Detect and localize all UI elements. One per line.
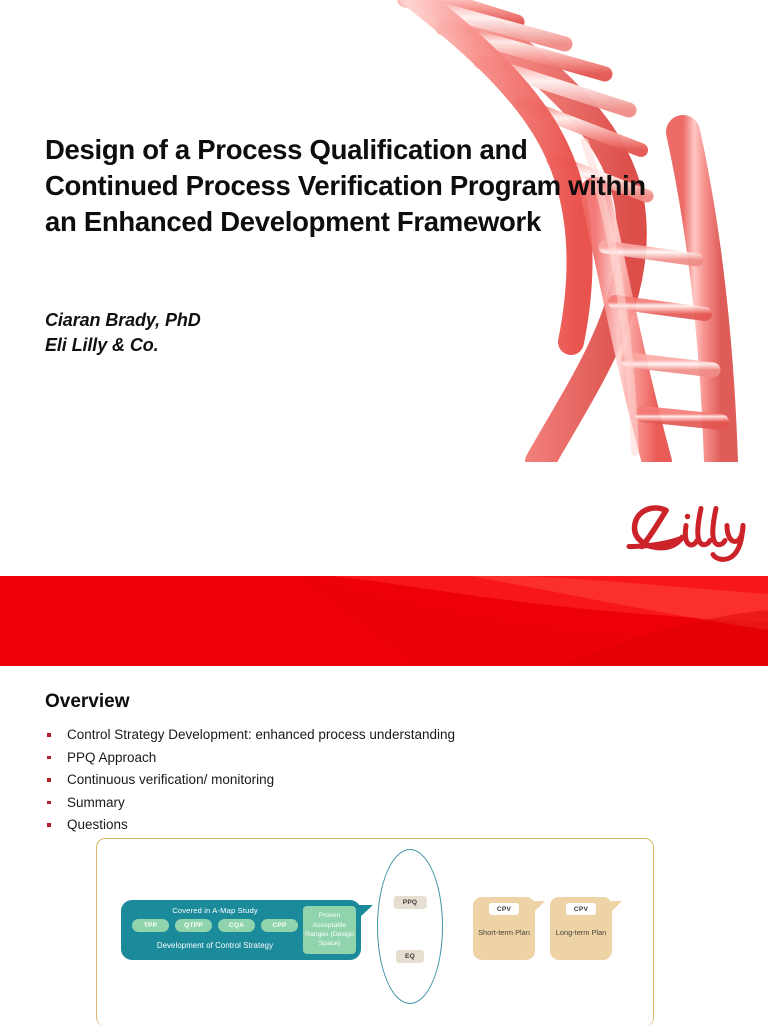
control-strategy-tail bbox=[359, 905, 373, 918]
list-item: Continuous verification/ monitoring bbox=[45, 769, 645, 792]
page-title: Design of a Process Qualification and Co… bbox=[45, 132, 665, 240]
pill-ppq: PPQ bbox=[394, 896, 427, 909]
overview-heading: Overview bbox=[45, 691, 130, 713]
cpv-short-term-label: Short-term Plan bbox=[473, 928, 535, 938]
list-item-label: PPQ Approach bbox=[67, 750, 156, 765]
bullet-icon bbox=[47, 778, 51, 782]
control-strategy-header: Covered in A-Map Study bbox=[131, 906, 299, 915]
cpv-tag: CPV bbox=[489, 903, 519, 915]
presenter-organization: Eli Lilly & Co. bbox=[45, 333, 545, 358]
pill-cqa: CQA bbox=[218, 919, 255, 932]
title-block: Design of a Process Qualification and Co… bbox=[45, 132, 665, 240]
pill-qtpp: QTPP bbox=[175, 919, 212, 932]
presenter-block: Ciaran Brady, PhD Eli Lilly & Co. bbox=[45, 308, 545, 358]
overview-bullet-list: Control Strategy Development: enhanced p… bbox=[45, 724, 645, 837]
title-slide: Design of a Process Qualification and Co… bbox=[0, 0, 768, 576]
bullet-icon bbox=[47, 733, 51, 737]
lilly-logo bbox=[618, 498, 748, 564]
cpv-short-term-tail bbox=[534, 901, 545, 912]
cpv-long-term-label: Long-term Plan bbox=[550, 928, 612, 938]
list-item: Summary bbox=[45, 792, 645, 815]
list-item-label: Questions bbox=[67, 817, 128, 832]
cpv-long-term-box: CPV Long-term Plan bbox=[550, 897, 612, 960]
list-item-label: Control Strategy Development: enhanced p… bbox=[67, 727, 455, 742]
list-item: Control Strategy Development: enhanced p… bbox=[45, 724, 645, 747]
pill-tpp: TPP bbox=[132, 919, 169, 932]
list-item-label: Summary bbox=[67, 795, 125, 810]
qualification-oval: PPQ EQ bbox=[377, 849, 443, 1004]
cpv-tag: CPV bbox=[566, 903, 596, 915]
cpv-short-term-box: CPV Short-term Plan bbox=[473, 897, 535, 960]
list-item: Questions bbox=[45, 814, 645, 837]
cpv-long-term-tail bbox=[611, 901, 622, 912]
process-lifecycle-diagram: Covered in A-Map Study TPP QTPP CQA CPP … bbox=[96, 838, 654, 1026]
bullet-icon bbox=[47, 801, 51, 805]
list-item: PPQ Approach bbox=[45, 747, 645, 770]
red-banner bbox=[0, 576, 768, 666]
control-strategy-pill-row: TPP QTPP CQA CPP bbox=[132, 919, 298, 932]
list-item-label: Continuous verification/ monitoring bbox=[67, 772, 274, 787]
presenter-name: Ciaran Brady, PhD bbox=[45, 308, 545, 333]
control-strategy-footer: Development of Control Strategy bbox=[129, 941, 301, 950]
overview-slide: Overview Control Strategy Development: e… bbox=[0, 666, 768, 1024]
control-strategy-box: Covered in A-Map Study TPP QTPP CQA CPP … bbox=[121, 900, 361, 960]
proven-acceptable-ranges-box: Proven Acceptable Ranges (Design Space) bbox=[303, 906, 356, 954]
pill-cpp: CPP bbox=[261, 919, 298, 932]
bullet-icon bbox=[47, 823, 51, 827]
bullet-icon bbox=[47, 756, 51, 760]
pill-eq: EQ bbox=[396, 950, 424, 963]
